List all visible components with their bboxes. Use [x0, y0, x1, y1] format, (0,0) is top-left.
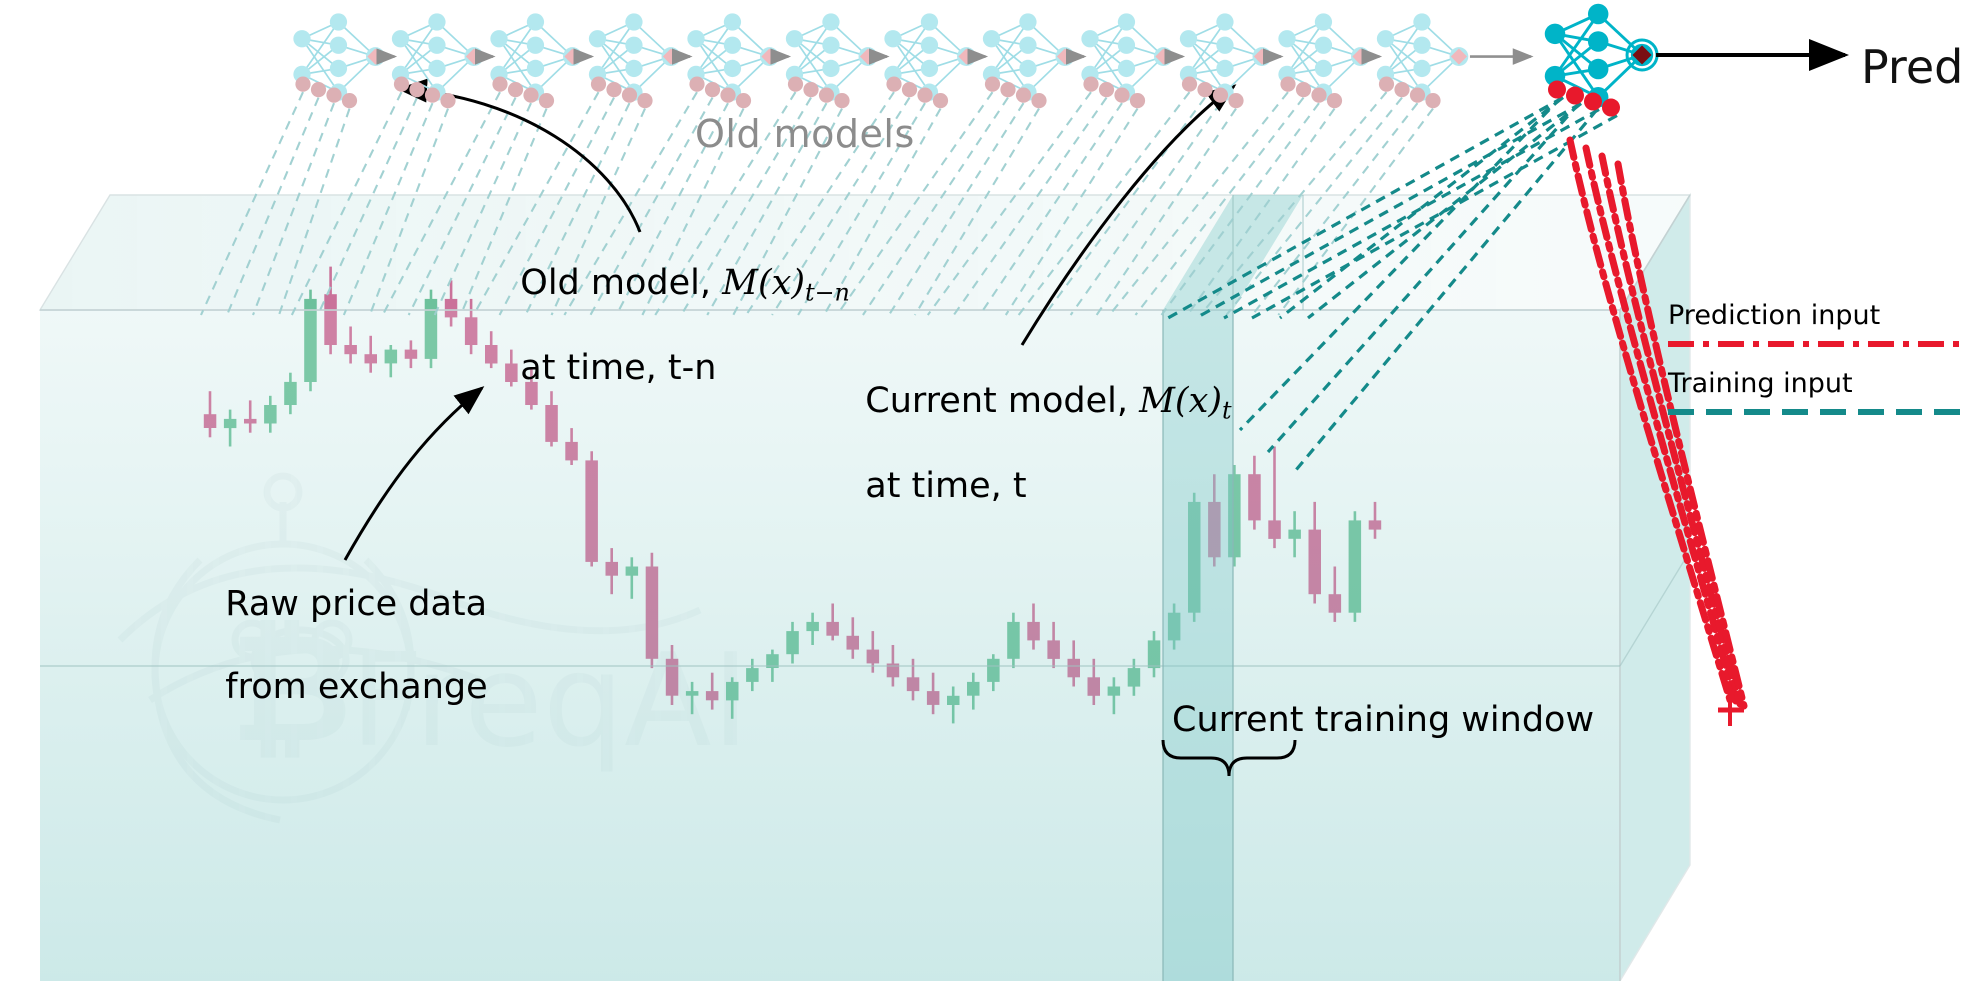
old-model-4-node	[687, 30, 704, 47]
candle-body	[324, 294, 337, 345]
candle-body	[1248, 474, 1261, 520]
nn-edge	[893, 45, 929, 74]
old-model-9-node	[1180, 30, 1197, 47]
nn-edge	[535, 57, 572, 93]
candle-body	[284, 382, 297, 405]
old-model-1-input-dot	[440, 93, 455, 108]
nn-edge	[696, 39, 732, 92]
nn-edge	[696, 45, 732, 74]
current-model-annotation-line1: Current model, M(x)t	[865, 381, 1231, 421]
old-model-9-input-dot	[1213, 88, 1228, 103]
nn-edge	[1225, 45, 1262, 56]
nn-edge	[1090, 39, 1126, 45]
current-training-dashed-line	[1196, 104, 1581, 318]
old-model-1-node	[428, 13, 445, 30]
current-training-window-slab	[1163, 195, 1303, 981]
candle-body	[1288, 530, 1301, 539]
nn-edge	[992, 22, 1028, 74]
candle-body	[646, 567, 659, 659]
old-model-3-node	[625, 60, 642, 77]
nn-edge	[1090, 22, 1126, 74]
raw-price-line2: from exchange	[225, 667, 487, 707]
nn-edge	[634, 57, 671, 93]
nn-edge	[598, 39, 634, 45]
training-dashed-line	[1019, 92, 1190, 315]
old-model-8-node	[1081, 66, 1098, 83]
nn-edge	[1386, 68, 1422, 74]
training-dashed-line	[915, 109, 1039, 315]
candle-body	[967, 682, 980, 696]
old-model-math-subscript: t−n	[805, 279, 850, 307]
current-model-annotation-prefix: Current model,	[865, 381, 1139, 421]
old-model-annotation-line2: at time, t-n	[520, 348, 716, 388]
nn-edge	[1555, 34, 1598, 97]
nn-edge	[1422, 57, 1459, 69]
nn-edge	[1225, 22, 1262, 57]
old-model-5-node	[786, 66, 803, 83]
nn-edge	[1126, 57, 1163, 69]
old-model-6-node	[921, 84, 938, 101]
nn-edge	[732, 45, 769, 56]
candle-body	[1027, 622, 1040, 641]
current-training-dashed-line	[1252, 116, 1617, 318]
candle-body	[1309, 530, 1322, 595]
old-model-3-input-dot	[591, 77, 606, 92]
current-training-input-lines	[1168, 98, 1617, 470]
old-model-9-output-diamond	[1254, 48, 1270, 64]
nn-edge	[598, 39, 634, 92]
training-dashed-line	[201, 92, 303, 315]
candle-body	[585, 460, 598, 562]
old-model-11-input-dot	[1394, 82, 1409, 97]
candle-body	[1148, 640, 1161, 668]
old-model-8-node	[1118, 13, 1135, 30]
old-model-11-node	[1413, 84, 1430, 101]
nn-edge	[992, 74, 1028, 92]
nn-edge	[302, 68, 338, 74]
nn-edge	[634, 57, 671, 69]
old-model-10-node	[1315, 13, 1332, 30]
old-model-8-input-dot	[1099, 82, 1114, 97]
candle-body	[244, 419, 257, 424]
candle-body	[1208, 502, 1221, 557]
nn-edge	[598, 22, 634, 39]
old-model-9-edges	[1189, 22, 1262, 92]
training-dashed-line	[318, 98, 417, 315]
candle-body	[545, 405, 558, 442]
nn-edge	[1225, 57, 1262, 93]
old-model-4-output-diamond	[761, 48, 777, 64]
old-model-3-node	[589, 66, 606, 83]
old-model-1-edges	[401, 22, 474, 92]
old-model-5-output-diamond	[860, 48, 876, 64]
old-model-2-node	[490, 66, 507, 83]
training-dashed-line	[1252, 103, 1417, 315]
nn-edge	[1189, 68, 1225, 74]
candle-body	[465, 317, 478, 345]
nn-edge	[893, 74, 929, 92]
raw-price-line1: Raw price data	[225, 584, 487, 624]
old-model-11-input-dot	[1379, 77, 1394, 92]
candle-body	[565, 442, 578, 461]
old-model-6-input-dot	[902, 82, 917, 97]
nn-edge	[499, 22, 535, 74]
nn-edge	[499, 45, 535, 74]
old-model-2-edges	[499, 22, 572, 92]
nn-edge	[302, 39, 338, 92]
nn-edge	[499, 74, 535, 92]
training-dashed-line	[1071, 103, 1221, 315]
old-model-4-node	[687, 66, 704, 83]
training-dashed-line	[1226, 98, 1402, 315]
old-model-3-node	[625, 84, 642, 101]
current-model-node	[1545, 66, 1565, 86]
old-model-10-node	[1278, 66, 1295, 83]
candle-body	[1188, 502, 1201, 613]
nn-edge	[1126, 22, 1163, 57]
old-model-0-output-halo	[366, 47, 385, 66]
nn-edge	[1422, 22, 1459, 57]
training-dashed-line	[344, 103, 433, 315]
candle-body	[445, 299, 458, 318]
old-model-8-output-diamond	[1155, 48, 1171, 64]
nn-edge	[1386, 39, 1422, 45]
nn-edge	[1598, 55, 1642, 69]
old-model-0-node	[293, 66, 310, 83]
nn-edge	[1287, 74, 1323, 92]
nn-edge	[1287, 39, 1323, 69]
old-model-8-input-dot	[1083, 77, 1098, 92]
prediction-dashdot-curve	[1586, 148, 1736, 702]
old-model-1-output-halo	[465, 47, 484, 66]
old-model-9-node	[1216, 13, 1233, 30]
nn-edge	[696, 74, 732, 92]
old-model-10-node	[1315, 37, 1332, 54]
training-dashed-line	[1110, 92, 1289, 315]
nn-edge	[929, 57, 966, 93]
nn-edge	[401, 68, 437, 74]
training-dashed-line	[980, 103, 1122, 315]
old-model-11-edges	[1386, 22, 1459, 92]
old-model-10-input-dot	[1280, 77, 1295, 92]
training-window-brace	[1163, 740, 1295, 776]
old-model-1-input-dot	[425, 88, 440, 103]
nn-edge	[1422, 57, 1459, 93]
old-model-8-node	[1118, 60, 1135, 77]
old-model-0-node	[330, 37, 347, 54]
nn-edge	[1287, 39, 1323, 92]
nn-edge	[598, 22, 634, 74]
old-model-5-input-dot	[803, 82, 818, 97]
old-model-2-output-halo	[563, 47, 582, 66]
candle-body	[1268, 520, 1281, 539]
nn-edge	[437, 57, 474, 69]
nn-edge	[696, 68, 732, 74]
old-model-3-output-diamond	[663, 48, 679, 64]
old-model-8-input-dot	[1130, 93, 1145, 108]
nn-edge	[1555, 34, 1598, 42]
nn-edge	[499, 39, 535, 45]
nn-edge	[338, 57, 375, 69]
nn-edge	[732, 57, 769, 69]
old-model-2-input-dot	[492, 77, 507, 92]
old-model-8-node	[1118, 37, 1135, 54]
old-model-2-node	[527, 60, 544, 77]
prediction-input-lines	[1570, 140, 1744, 726]
nn-edge	[499, 68, 535, 74]
nn-edge	[795, 39, 831, 69]
training-dashed-line	[1136, 98, 1304, 315]
old-model-1-node	[392, 30, 409, 47]
training-dashed-line	[292, 92, 402, 315]
nn-edge	[401, 39, 437, 92]
nn-edge	[1090, 74, 1126, 92]
nn-edge	[338, 45, 375, 56]
old-model-9-node	[1216, 84, 1233, 101]
old-model-5-input-dot	[788, 77, 803, 92]
candle-body	[1168, 613, 1181, 641]
old-model-0-node	[330, 60, 347, 77]
old-model-7-output-diamond	[1057, 48, 1073, 64]
nn-edge	[1090, 68, 1126, 74]
old-model-10-input-dot	[1296, 82, 1311, 97]
nn-edge	[1555, 34, 1598, 69]
nn-edge	[732, 22, 769, 57]
nn-edge	[1028, 57, 1065, 69]
candle-body	[786, 631, 799, 654]
candle-body	[1349, 520, 1362, 612]
nn-edge	[1126, 57, 1163, 93]
training-dashed-line	[253, 103, 334, 315]
old-model-7-input-dot	[985, 77, 1000, 92]
old-model-2-node	[527, 37, 544, 54]
nn-edge	[1287, 45, 1323, 74]
nn-edge	[1090, 39, 1126, 92]
current-model-math-subscript: t	[1222, 397, 1232, 425]
nn-edge	[1090, 39, 1126, 69]
current-model-annotation: Current model, M(x)t at time, t	[843, 340, 1232, 508]
candle-body	[867, 650, 880, 664]
nn-edge	[992, 22, 1028, 39]
old-model-2-output-diamond	[564, 48, 580, 64]
candle-body	[1128, 668, 1141, 687]
nn-edge	[1386, 22, 1422, 39]
candle-body	[1108, 687, 1121, 696]
old-model-6-node	[921, 13, 938, 30]
current-training-dashed-line	[1308, 104, 1581, 318]
old-model-annotation: Old model, M(x)t−n at time, t-n	[498, 222, 850, 390]
old-model-7-edges	[992, 22, 1065, 92]
old-model-4-input-dot	[689, 77, 704, 92]
nn-edge	[696, 39, 732, 69]
old-model-8-node	[1118, 84, 1135, 101]
old-model-7-output-halo	[1056, 47, 1075, 66]
candle-body	[726, 682, 739, 701]
old-model-1-input-dot	[409, 82, 424, 97]
old-model-4-node	[724, 37, 741, 54]
nn-edge	[893, 22, 929, 74]
old-model-4-input-dot	[720, 88, 735, 103]
candle-body	[365, 354, 378, 363]
old-model-5-node	[822, 84, 839, 101]
nn-edge	[831, 57, 868, 69]
old-model-8-input-dot	[1114, 88, 1129, 103]
nn-edge	[598, 39, 634, 69]
old-model-5-node	[822, 37, 839, 54]
nn-edge	[535, 45, 572, 56]
nn-edge	[929, 22, 966, 57]
nn-edge	[1189, 39, 1225, 45]
candle-body	[264, 405, 277, 424]
current-model-node	[1588, 31, 1608, 51]
old-model-9-node	[1180, 66, 1197, 83]
old-model-11-node	[1377, 30, 1394, 47]
nn-edge	[302, 74, 338, 92]
candle-body	[1088, 677, 1101, 696]
nn-edge	[1189, 22, 1225, 39]
old-model-6-node	[921, 60, 938, 77]
candle-body	[304, 299, 317, 382]
old-model-4-input-dot	[736, 93, 751, 108]
current-model-input-dot	[1602, 99, 1620, 117]
old-model-3-node	[625, 13, 642, 30]
current-model-edges	[1555, 14, 1642, 97]
nn-edge	[1090, 22, 1126, 39]
old-model-6-node	[884, 66, 901, 83]
nn-edge	[992, 39, 1028, 92]
nn-edge	[401, 39, 437, 45]
old-model-11-node	[1413, 13, 1430, 30]
nn-edge	[1287, 22, 1323, 74]
nn-edge	[929, 57, 966, 69]
candle-body	[1068, 659, 1081, 678]
old-model-3-input-dot	[637, 93, 652, 108]
nn-edge	[1555, 14, 1598, 34]
nn-edge	[1189, 39, 1225, 69]
candle-body	[847, 636, 860, 650]
nn-edge	[302, 45, 338, 74]
training-dashed-line	[1162, 103, 1320, 315]
old-model-4-edges	[696, 22, 769, 92]
candle-body	[485, 345, 498, 364]
training-dashed-line	[1045, 98, 1205, 315]
old-model-6-input-dot	[933, 93, 948, 108]
nn-edge	[831, 22, 868, 57]
nn-edge	[795, 22, 831, 74]
old-model-0-input-dot	[295, 77, 310, 92]
old-model-0-input-dot	[342, 93, 357, 108]
old-model-10-output-halo	[1351, 47, 1370, 66]
old-model-7-node	[983, 66, 1000, 83]
old-model-11-node	[1413, 60, 1430, 77]
old-model-8-node	[1081, 30, 1098, 47]
nn-edge	[401, 22, 437, 74]
raw-price-annotation: Raw price data from exchange	[203, 543, 488, 708]
old-models-chain	[293, 13, 1531, 108]
nn-edge	[302, 22, 338, 39]
nn-edge	[1028, 57, 1065, 93]
legend-prediction-input-label: Prediction input	[1668, 300, 1880, 332]
candle-body	[1369, 520, 1382, 529]
old-model-0-input-dot	[326, 88, 341, 103]
nn-edge	[302, 39, 338, 69]
nn-edge	[992, 68, 1028, 74]
current-model-node	[1588, 87, 1608, 107]
old-model-3-node	[589, 30, 606, 47]
nn-edge	[634, 45, 671, 56]
nn-edge	[598, 45, 634, 74]
old-model-3-node	[625, 37, 642, 54]
nn-edge	[1323, 57, 1360, 93]
nn-edge	[795, 74, 831, 92]
nn-edge	[1555, 14, 1598, 76]
training-dashed-line	[1200, 92, 1386, 315]
old-model-2-input-dot	[539, 93, 554, 108]
old-model-1-node	[392, 66, 409, 83]
old-model-5-node	[786, 30, 803, 47]
nn-edge	[831, 45, 868, 56]
nn-edge	[795, 45, 831, 74]
current-model-output-diamond	[1632, 45, 1651, 64]
old-model-5-input-dot	[819, 88, 834, 103]
old-model-2-node	[490, 30, 507, 47]
nn-edge	[992, 39, 1028, 69]
old-model-0-input-dot	[311, 82, 326, 97]
nn-edge	[893, 39, 929, 45]
nn-edge	[535, 22, 572, 57]
nn-edge	[1555, 42, 1598, 77]
old-model-10-node	[1278, 30, 1295, 47]
nn-edge	[732, 57, 769, 93]
nn-edge	[1598, 42, 1642, 55]
nn-edge	[1287, 22, 1323, 39]
nn-edge	[831, 57, 868, 93]
current-training-dashed-line	[1224, 110, 1599, 318]
nn-edge	[893, 22, 929, 39]
nn-edge	[1323, 45, 1360, 56]
current-training-dashed-line-long	[1268, 104, 1579, 452]
nn-edge	[1422, 45, 1459, 56]
old-model-1-input-dot	[394, 77, 409, 92]
old-model-11-node	[1377, 66, 1394, 83]
current-model-annotation-line2: at time, t	[865, 466, 1026, 506]
old-model-9-output-halo	[1253, 47, 1272, 66]
training-dashed-line	[1188, 109, 1335, 315]
legend-training-input-label: Training input	[1668, 368, 1853, 400]
candle-body	[385, 350, 398, 364]
nn-edge	[338, 22, 375, 57]
current-training-window-label: Current training window	[1172, 700, 1594, 741]
current-model-math: M(x)t	[1139, 381, 1231, 421]
old-model-9-node	[1216, 37, 1233, 54]
current-model-output-halo	[1631, 44, 1653, 66]
candle-body	[425, 299, 438, 359]
old-model-11-input-dot	[1410, 88, 1425, 103]
nn-edge	[1386, 74, 1422, 92]
candle-body	[344, 345, 357, 354]
old-model-4-node	[724, 84, 741, 101]
nn-edge	[893, 68, 929, 74]
old-model-annotation-line1: Old model, M(x)t−n	[520, 263, 850, 303]
current-training-dashed-line	[1168, 98, 1563, 318]
old-model-0-node	[330, 13, 347, 30]
training-dashed-line	[1006, 109, 1138, 315]
old-model-6-input-dot	[917, 88, 932, 103]
nn-edge	[992, 45, 1028, 74]
old-model-10-node	[1315, 84, 1332, 101]
candle-body	[626, 567, 639, 576]
candle-body	[1329, 594, 1342, 613]
